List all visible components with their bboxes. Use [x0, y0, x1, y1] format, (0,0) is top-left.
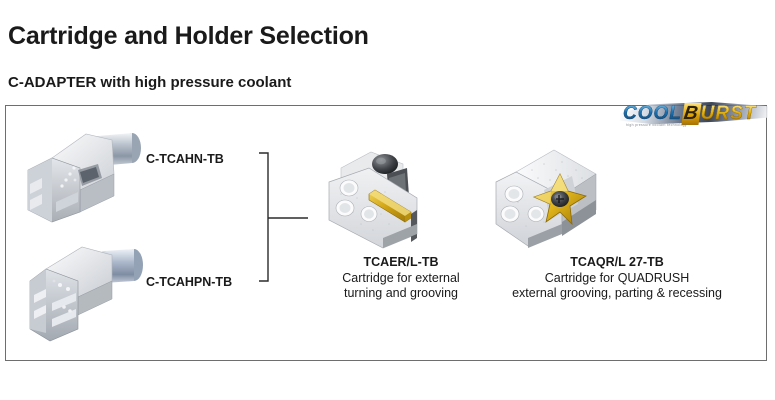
- logo-wordmark: COOLBURST: [623, 103, 756, 125]
- cartridge-desc-tcaer-line2: turning and grooving: [306, 286, 496, 301]
- tcaqr-l-27-tb-cartridge-render: [492, 138, 634, 250]
- adapter-label-tcahpn: C-TCAHPN-TB: [146, 275, 232, 289]
- cartridge-desc-tcaqr-line1: Cartridge for QUADRUSH: [472, 271, 762, 286]
- adapter-label-tcahn: C-TCAHN-TB: [146, 152, 224, 166]
- cartridge-caption-tcaqr: TCAQR/L 27-TB Cartridge for QUADRUSH ext…: [472, 255, 762, 300]
- c-tcahpn-tb-adapter-render: [20, 233, 152, 345]
- cartridge-title-tcaer: TCAER/L-TB: [306, 255, 496, 269]
- cartridge-desc-tcaer-line1: Cartridge for external: [306, 271, 496, 286]
- cartridge-caption-tcaer: TCAER/L-TB Cartridge for external turnin…: [306, 255, 496, 300]
- logo-cool-text: COOL: [623, 103, 682, 124]
- tcaer-l-tb-cartridge-render: [325, 138, 457, 250]
- page-subtitle: C-ADAPTER with high pressure coolant: [8, 74, 291, 91]
- logo-burst-text: URST: [701, 103, 757, 124]
- page-title: Cartridge and Holder Selection: [8, 22, 369, 51]
- logo-b-badge: B: [681, 103, 701, 125]
- cartridge-desc-tcaqr-line2: external grooving, parting & recessing: [472, 286, 762, 301]
- catalog-page: Cartridge and Holder Selection C-ADAPTER…: [0, 0, 775, 400]
- coolburst-logo: COOLBURST high pressure coolant technolo…: [620, 100, 768, 136]
- c-tcahn-tb-adapter-render: [20, 118, 152, 230]
- logo-tagline: high pressure coolant technology: [626, 123, 687, 127]
- cartridge-title-tcaqr: TCAQR/L 27-TB: [472, 255, 762, 269]
